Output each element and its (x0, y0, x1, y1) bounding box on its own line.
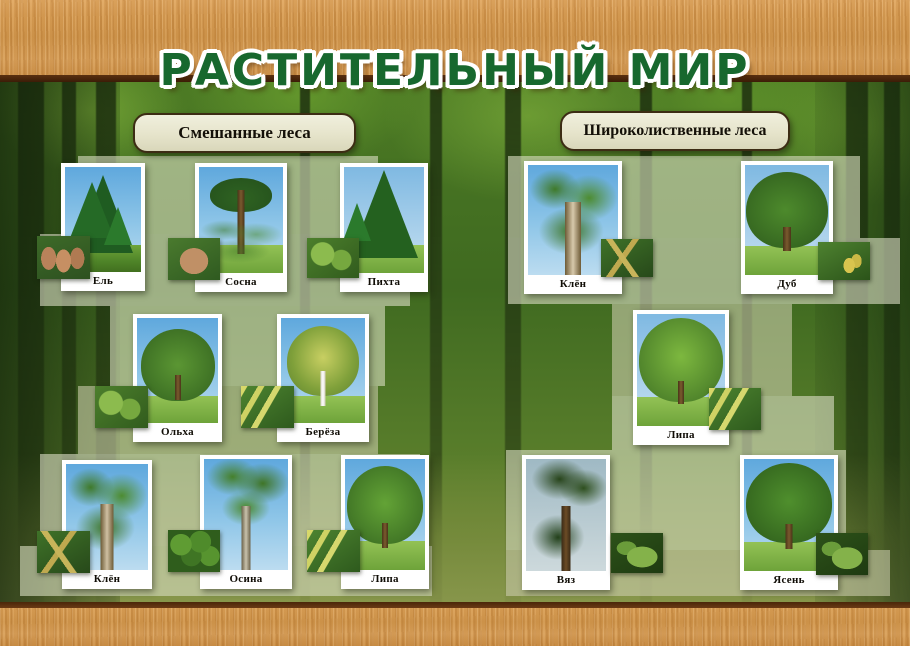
tree-photo-alder (137, 318, 218, 423)
tree-label: Дуб (745, 275, 829, 294)
section-heading-broadleaf-forests: Широколиственные леса (560, 111, 790, 151)
detail-inset-alder-leaves[interactable] (95, 386, 148, 428)
tree-label: Осина (204, 570, 288, 589)
detail-inset-ash-leaves[interactable] (816, 533, 868, 575)
detail-inset-maple-seeds-broadleaf[interactable] (601, 239, 653, 277)
tree-label: Клён (528, 275, 618, 294)
tree-card-elm[interactable]: Вяз (522, 455, 610, 590)
page-title: РАСТИТЕЛЬНЫЙ МИР (0, 35, 910, 105)
detail-inset-birch-catkins[interactable] (241, 386, 294, 428)
tree-label: Липа (345, 570, 425, 589)
detail-inset-oak-acorns[interactable] (818, 242, 870, 280)
detail-inset-aspen-leaves[interactable] (168, 530, 220, 572)
tree-photo-oak (745, 165, 829, 275)
section-heading-mixed-forests: Смешанные леса (133, 113, 356, 153)
poster-root: Смешанные леса Широколиственные леса Ель… (0, 0, 910, 646)
detail-inset-linden-flowers-broadleaf[interactable] (709, 388, 761, 430)
detail-inset-maple-seeds-mixed[interactable] (37, 531, 90, 573)
tree-label: Вяз (526, 571, 606, 590)
detail-inset-elm-leaves[interactable] (611, 533, 663, 573)
detail-inset-spruce-cones[interactable] (37, 236, 90, 279)
detail-inset-fir-cones[interactable] (307, 238, 359, 278)
tree-photo-elm (526, 459, 606, 571)
wood-frame-bottom (0, 602, 910, 646)
detail-inset-linden-flowers-mixed[interactable] (307, 530, 360, 572)
detail-inset-pine-cone[interactable] (168, 238, 220, 280)
tree-label: Ольха (137, 423, 218, 442)
